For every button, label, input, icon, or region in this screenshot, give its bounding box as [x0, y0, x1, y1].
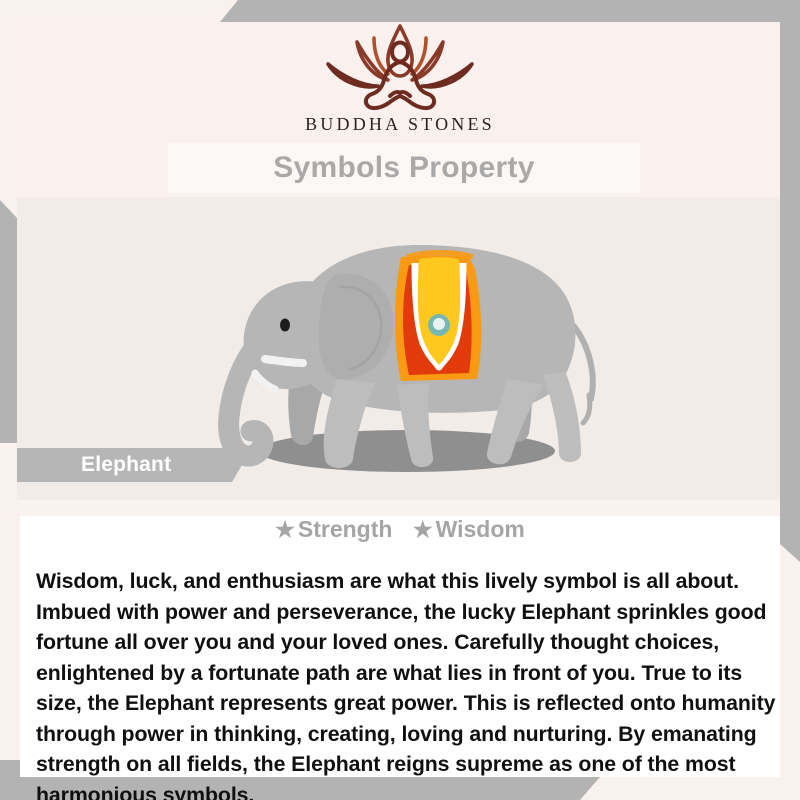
trait-label-wisdom: Wisdom	[436, 516, 525, 542]
trait-label-strength: Strength	[298, 516, 393, 542]
symbol-name-banner: Elephant	[17, 448, 252, 482]
lotus-meditation-icon	[312, 16, 488, 112]
symbol-property-card: BUDDHA STONES Symbols Property	[0, 0, 800, 800]
title-band: Symbols Property	[168, 143, 640, 193]
decorative-bar-left	[0, 200, 17, 443]
trait-item-wisdom: ★Wisdom	[413, 516, 525, 543]
brand-header: BUDDHA STONES	[0, 16, 800, 135]
page-title: Symbols Property	[273, 151, 535, 185]
symbol-name: Elephant	[81, 453, 171, 477]
symbol-description: Wisdom, luck, and enthusiasm are what th…	[36, 566, 776, 800]
trait-item-strength: ★Strength	[275, 516, 392, 543]
trait-list: ★Strength ★Wisdom	[0, 516, 800, 543]
star-icon: ★	[413, 517, 433, 542]
description-panel-tint	[20, 500, 780, 516]
star-icon: ★	[275, 517, 295, 542]
brand-name: BUDDHA STONES	[0, 114, 800, 135]
